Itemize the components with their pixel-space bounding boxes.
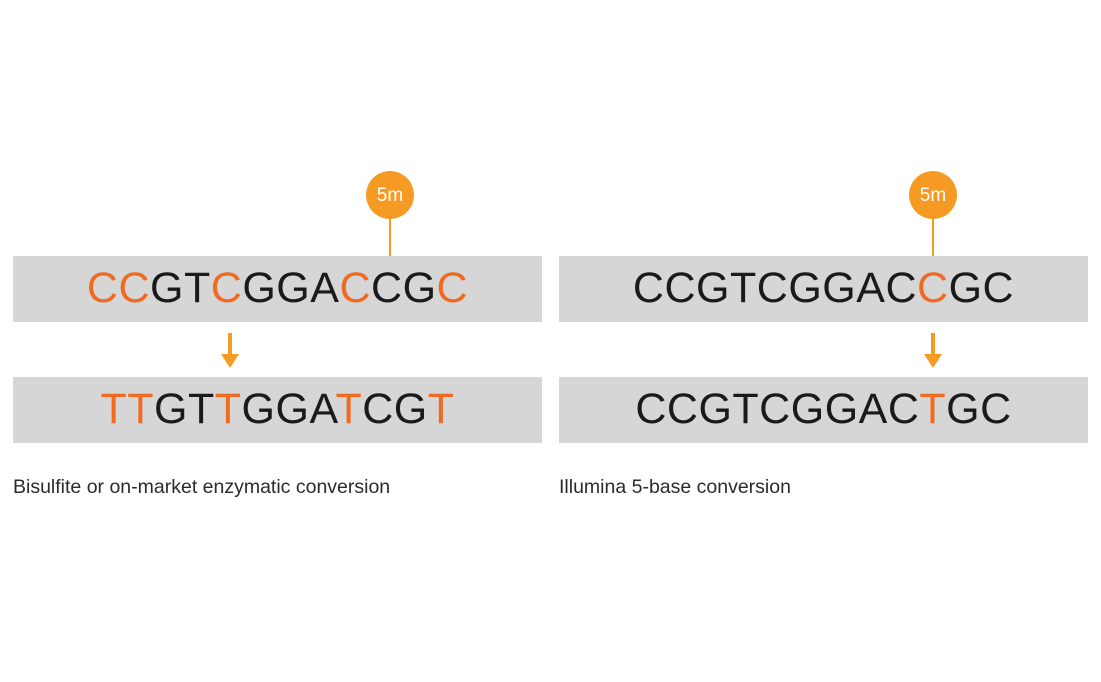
sequence-base: G <box>946 385 980 433</box>
sequence-base: G <box>791 385 825 433</box>
sequence-base: T <box>732 385 759 433</box>
sequence-base: C <box>362 385 394 433</box>
sequence-base: G <box>822 264 856 312</box>
methylation-badge-5m: 5m <box>909 171 957 219</box>
sequence-base: G <box>949 264 983 312</box>
sequence-base: A <box>310 264 339 312</box>
sequence-base: C <box>759 385 791 433</box>
output-sequence-text: CCGTCGGACTGC <box>559 388 1088 433</box>
sequence-base: G <box>276 385 310 433</box>
output-sequence-bar: TTGTTGGATCGT <box>13 377 542 443</box>
sequence-base: C <box>635 385 667 433</box>
sequence-base: C <box>757 264 789 312</box>
sequence-base: G <box>403 264 437 312</box>
sequence-base: C <box>118 264 150 312</box>
sequence-base: C <box>437 264 469 312</box>
sequence-base: G <box>276 264 310 312</box>
sequence-base: G <box>394 385 428 433</box>
sequence-base: C <box>633 264 665 312</box>
input-sequence-text: CCGTCGGACCGC <box>13 267 542 312</box>
panel-bisulfite-conversion: 5m CCGTCGGACCGC TTGTTGGATCGT Bisulfite o… <box>0 0 555 682</box>
input-sequence-bar: CCGTCGGACCGC <box>559 256 1088 322</box>
sequence-base: G <box>698 385 732 433</box>
conversion-arrow-icon <box>922 333 944 369</box>
sequence-base: C <box>983 264 1015 312</box>
sequence-base: C <box>211 264 243 312</box>
sequence-base: C <box>339 264 371 312</box>
sequence-base: T <box>919 385 946 433</box>
sequence-base: T <box>184 264 211 312</box>
sequence-base: T <box>428 385 455 433</box>
sequence-base: T <box>100 385 127 433</box>
methylation-badge-stem <box>389 215 391 256</box>
panel-caption: Bisulfite or on-market enzymatic convers… <box>13 476 390 499</box>
output-sequence-bar: CCGTCGGACTGC <box>559 377 1088 443</box>
input-sequence-text: CCGTCGGACCGC <box>559 267 1088 312</box>
sequence-base: T <box>335 385 362 433</box>
conversion-arrow-icon <box>219 333 241 369</box>
sequence-base: T <box>127 385 154 433</box>
sequence-base: C <box>667 385 699 433</box>
sequence-base: T <box>730 264 757 312</box>
sequence-base: A <box>859 385 888 433</box>
output-sequence-text: TTGTTGGATCGT <box>13 388 542 433</box>
sequence-base: G <box>242 385 276 433</box>
sequence-base: T <box>215 385 242 433</box>
sequence-base: G <box>788 264 822 312</box>
sequence-base: G <box>696 264 730 312</box>
sequence-base: C <box>917 264 949 312</box>
sequence-base: G <box>154 385 188 433</box>
sequence-base: C <box>87 264 119 312</box>
sequence-base: C <box>888 385 920 433</box>
sequence-base: A <box>856 264 885 312</box>
sequence-base: C <box>664 264 696 312</box>
panel-caption: Illumina 5-base conversion <box>559 476 791 499</box>
input-sequence-bar: CCGTCGGACCGC <box>13 256 542 322</box>
figure-canvas: 5m CCGTCGGACCGC TTGTTGGATCGT Bisulfite o… <box>0 0 1101 682</box>
sequence-base: C <box>371 264 403 312</box>
sequence-base: G <box>242 264 276 312</box>
sequence-base: C <box>980 385 1012 433</box>
methylation-badge-stem <box>932 215 934 256</box>
sequence-base: C <box>885 264 917 312</box>
sequence-base: T <box>188 385 215 433</box>
methylation-badge-5m: 5m <box>366 171 414 219</box>
sequence-base: G <box>150 264 184 312</box>
sequence-base: A <box>309 385 335 433</box>
panel-illumina-5-base-conversion: 5m CCGTCGGACCGC CCGTCGGACTGC Illumina 5-… <box>555 0 1101 682</box>
sequence-base: G <box>825 385 859 433</box>
